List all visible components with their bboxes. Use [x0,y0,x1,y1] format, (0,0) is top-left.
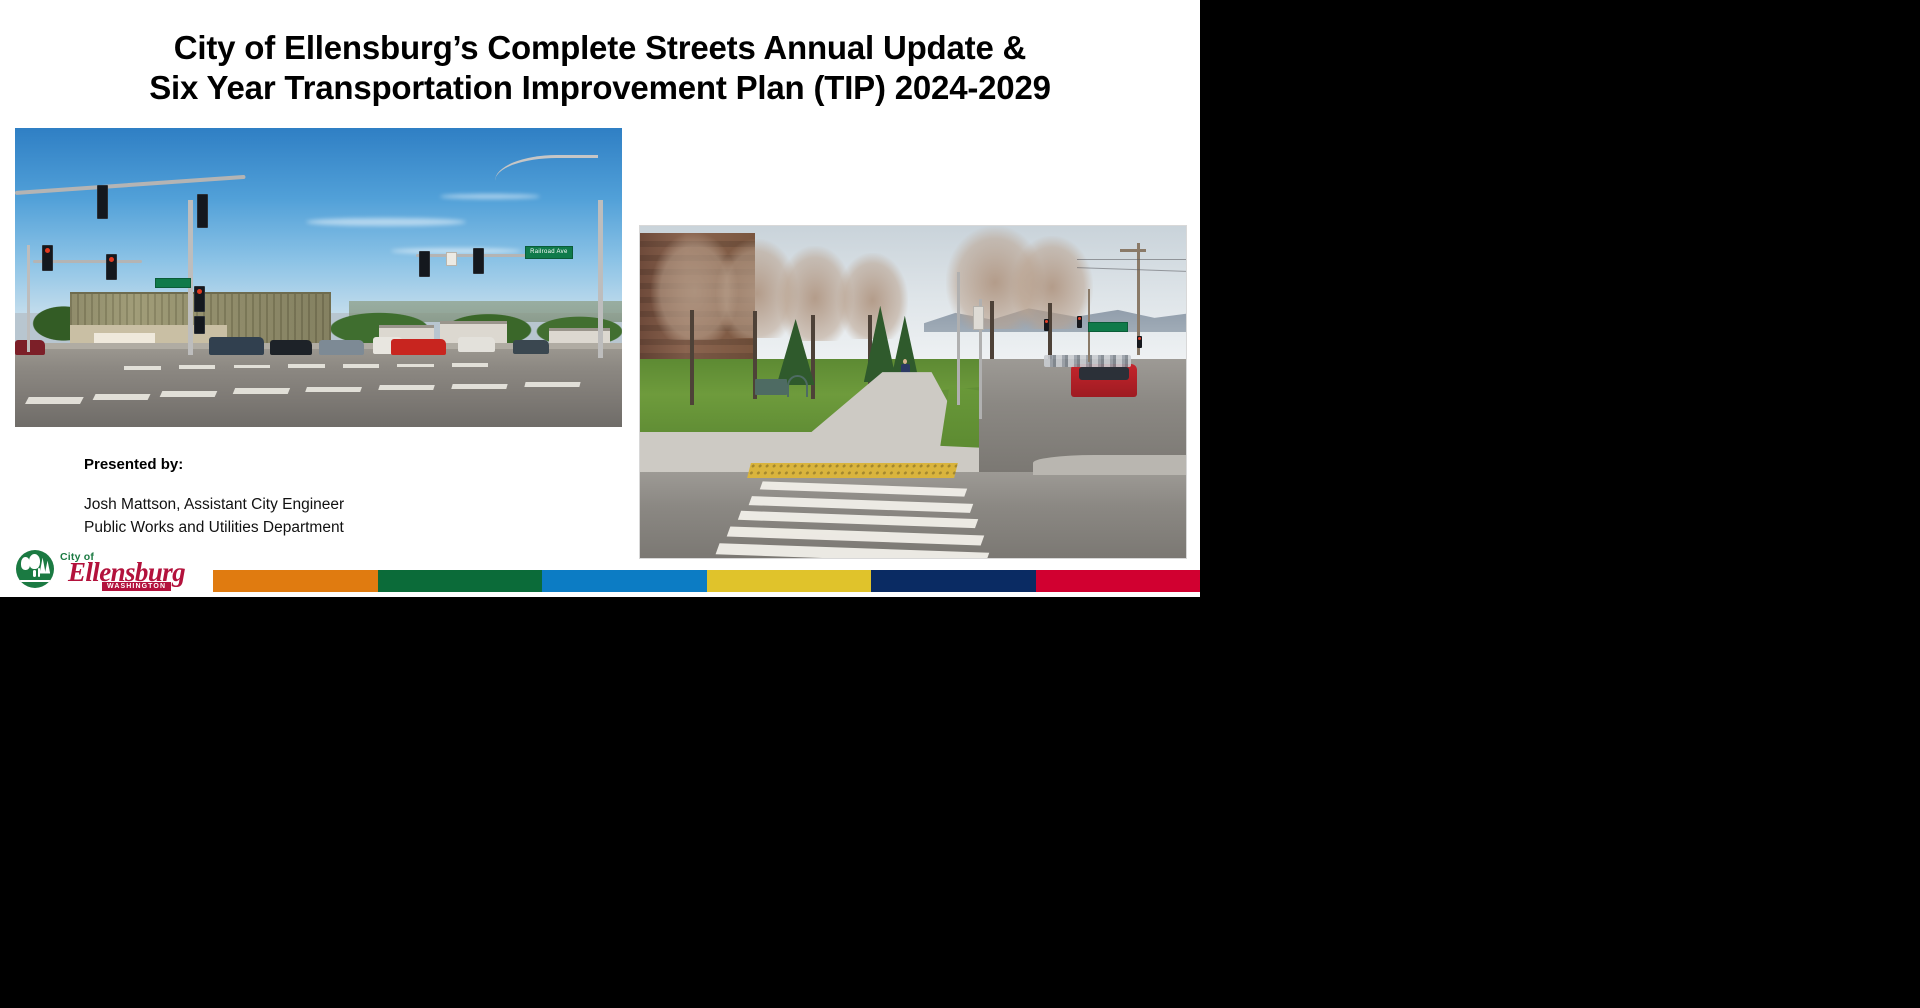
regulatory-sign [973,306,984,330]
park-bench [755,379,788,396]
vehicle-suv [209,337,264,355]
street-name-sign [155,278,191,288]
crosswalk-bar [179,365,215,369]
crosswalk-bar [25,397,83,404]
vehicle-car [270,340,312,355]
brand-color-bar [213,570,1200,592]
screenshot-viewport: City of Ellensburg’s Complete Streets An… [0,0,1920,1008]
crosswalk-bar [343,364,379,368]
crosswalk-photo [639,225,1187,559]
crosswalk-bar [451,384,507,389]
traffic-signal [197,194,208,228]
vehicle-car [15,340,45,355]
vehicle-car [513,340,549,353]
bike-rack [787,375,807,397]
curb-return [1033,455,1186,475]
streetlight-pole [957,272,960,405]
vehicle-car [319,340,365,355]
traffic-signal [97,185,108,219]
traffic-signal [194,286,205,312]
street-name-sign: Railroad Ave [525,246,573,259]
band-crimson [1036,570,1201,592]
streetlight-pole [598,200,603,358]
overhead-wire [1077,259,1186,260]
band-yellow [707,570,872,592]
band-blue [542,570,707,592]
presenter-name-title: Josh Mattson, Assistant City Engineer [84,493,604,516]
crosswalk-bar [305,387,362,392]
crosswalk-bar [378,385,434,390]
band-green [378,570,543,592]
crosswalk-bar [124,366,160,370]
traffic-signal [42,245,53,271]
tactile-warning-pad [747,463,958,478]
city-logo: City of Ellensburg WASHINGTON [16,548,202,590]
traffic-signal [1044,319,1049,331]
band-navy [871,570,1036,592]
crosswalk-bar [452,363,488,367]
traffic-signal [106,254,117,280]
crosswalk-bar [397,364,433,368]
presented-by-block: Presented by: Josh Mattson, Assistant Ci… [84,455,604,539]
crosswalk-bar [524,382,580,387]
vehicle-pickup [391,339,446,355]
ellensburg-tree-emblem-icon [16,550,54,588]
presenter-department: Public Works and Utilities Department [84,516,604,539]
crosswalk-bar [92,394,150,400]
crosswalk-bar [288,364,324,368]
band-orange [213,570,378,592]
regulatory-sign [446,252,457,266]
logo-state-badge: WASHINGTON [102,582,171,591]
title-line-1: City of Ellensburg’s Complete Streets An… [0,28,1200,68]
cloud-wisp [306,218,466,226]
pedestrian-signal [194,316,205,334]
utility-crossarm [1120,249,1146,252]
presentation-slide: City of Ellensburg’s Complete Streets An… [0,0,1200,597]
street-name-sign [1088,322,1128,332]
title-line-2: Six Year Transportation Improvement Plan… [0,68,1200,108]
intersection-photo: Railroad Ave [15,128,622,427]
crosswalk-bar [234,365,270,369]
traffic-signal [473,248,484,274]
traffic-signal [1137,336,1142,348]
crosswalk-bar [232,388,289,394]
traffic-signal [1077,316,1082,328]
signal-pole [27,245,30,353]
crosswalk-bar [159,391,216,397]
vehicle-red-suv [1071,364,1137,397]
presented-by-label: Presented by: [84,455,604,475]
vehicle-rv [458,337,494,352]
slide-title: City of Ellensburg’s Complete Streets An… [0,28,1200,108]
traffic-signal [419,251,430,277]
